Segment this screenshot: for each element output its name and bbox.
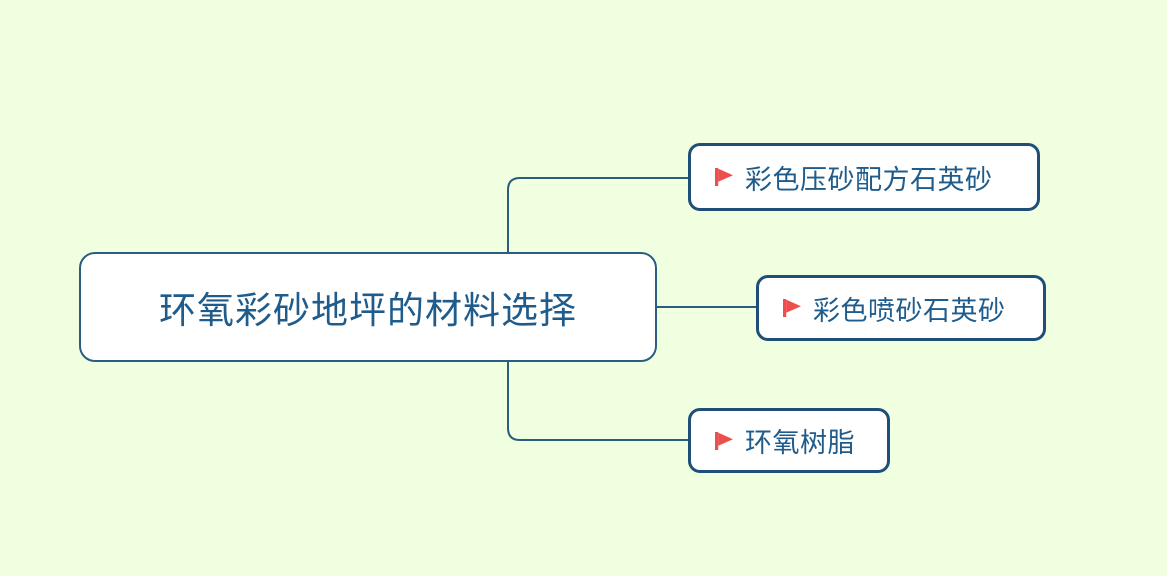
mindmap-child-label-3: 环氧树脂 (745, 421, 855, 460)
mindmap-root-label: 环氧彩砂地坪的材料选择 (159, 280, 577, 334)
mindmap-child-node-1[interactable]: 彩色压砂配方石英砂 (688, 143, 1040, 211)
flag-icon (711, 428, 737, 454)
mindmap-canvas: 环氧彩砂地坪的材料选择 彩色压砂配方石英砂 彩色喷砂石英砂 环氧 (0, 0, 1167, 576)
mindmap-root-node[interactable]: 环氧彩砂地坪的材料选择 (79, 252, 657, 362)
mindmap-child-node-3[interactable]: 环氧树脂 (688, 408, 890, 473)
mindmap-child-label-1: 彩色压砂配方石英砂 (745, 158, 993, 197)
mindmap-child-label-2: 彩色喷砂石英砂 (813, 289, 1006, 328)
flag-icon (779, 295, 805, 321)
flag-icon (711, 164, 737, 190)
mindmap-child-node-2[interactable]: 彩色喷砂石英砂 (756, 275, 1046, 341)
